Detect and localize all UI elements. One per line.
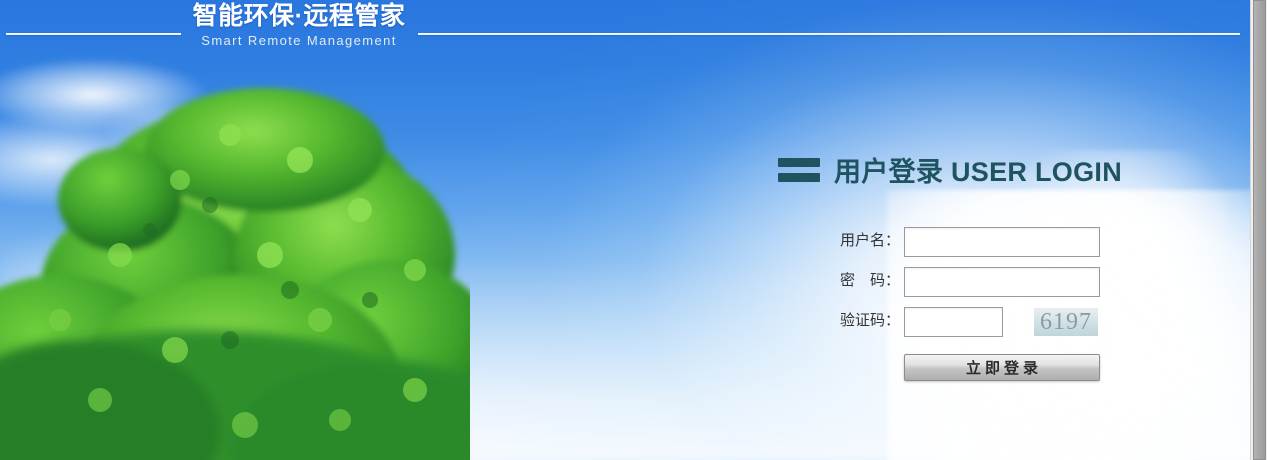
captcha-input[interactable] — [904, 307, 1003, 337]
scrollbar-thumb[interactable] — [1253, 0, 1266, 460]
tree-photo — [0, 40, 470, 460]
username-label: 用户名： — [840, 227, 904, 252]
login-form: 用户名： 密 码： 验证码： 6197 立即登录 — [778, 227, 1158, 381]
captcha-label: 验证码： — [840, 307, 904, 332]
page-header: 智能环保·远程管家 Smart Remote Management — [0, 0, 1250, 66]
double-bar-icon — [778, 158, 820, 182]
tree-icon — [0, 40, 470, 460]
login-button[interactable]: 立即登录 — [904, 354, 1100, 381]
brand-title-cn: 智能环保·远程管家 — [186, 4, 412, 29]
header-rule-right — [418, 33, 1240, 35]
login-title-label: 用户登录 USER LOGIN — [834, 150, 1122, 189]
header-rule-left — [6, 33, 181, 35]
brand-logo: 智能环保·远程管家 Smart Remote Management — [186, 4, 412, 47]
form-row-captcha: 验证码： 6197 — [840, 307, 1158, 337]
form-row-submit: 立即登录 — [840, 354, 1158, 381]
bar-bottom — [778, 173, 820, 182]
vertical-scrollbar[interactable] — [1250, 0, 1267, 460]
form-row-password: 密 码： — [840, 267, 1158, 297]
form-row-username: 用户名： — [840, 227, 1158, 257]
brand-title-en: Smart Remote Management — [186, 34, 412, 47]
username-input[interactable] — [904, 227, 1100, 257]
captcha-image[interactable]: 6197 — [1034, 308, 1098, 336]
password-label: 密 码： — [840, 267, 904, 292]
bar-top — [778, 158, 820, 167]
password-input[interactable] — [904, 267, 1100, 297]
login-heading: 用户登录 USER LOGIN — [778, 150, 1158, 189]
login-page: 智能环保·远程管家 Smart Remote Management 用户登录 U… — [0, 0, 1267, 460]
login-panel: 用户登录 USER LOGIN 用户名： 密 码： 验证码： 6197 立即登录 — [778, 150, 1158, 381]
